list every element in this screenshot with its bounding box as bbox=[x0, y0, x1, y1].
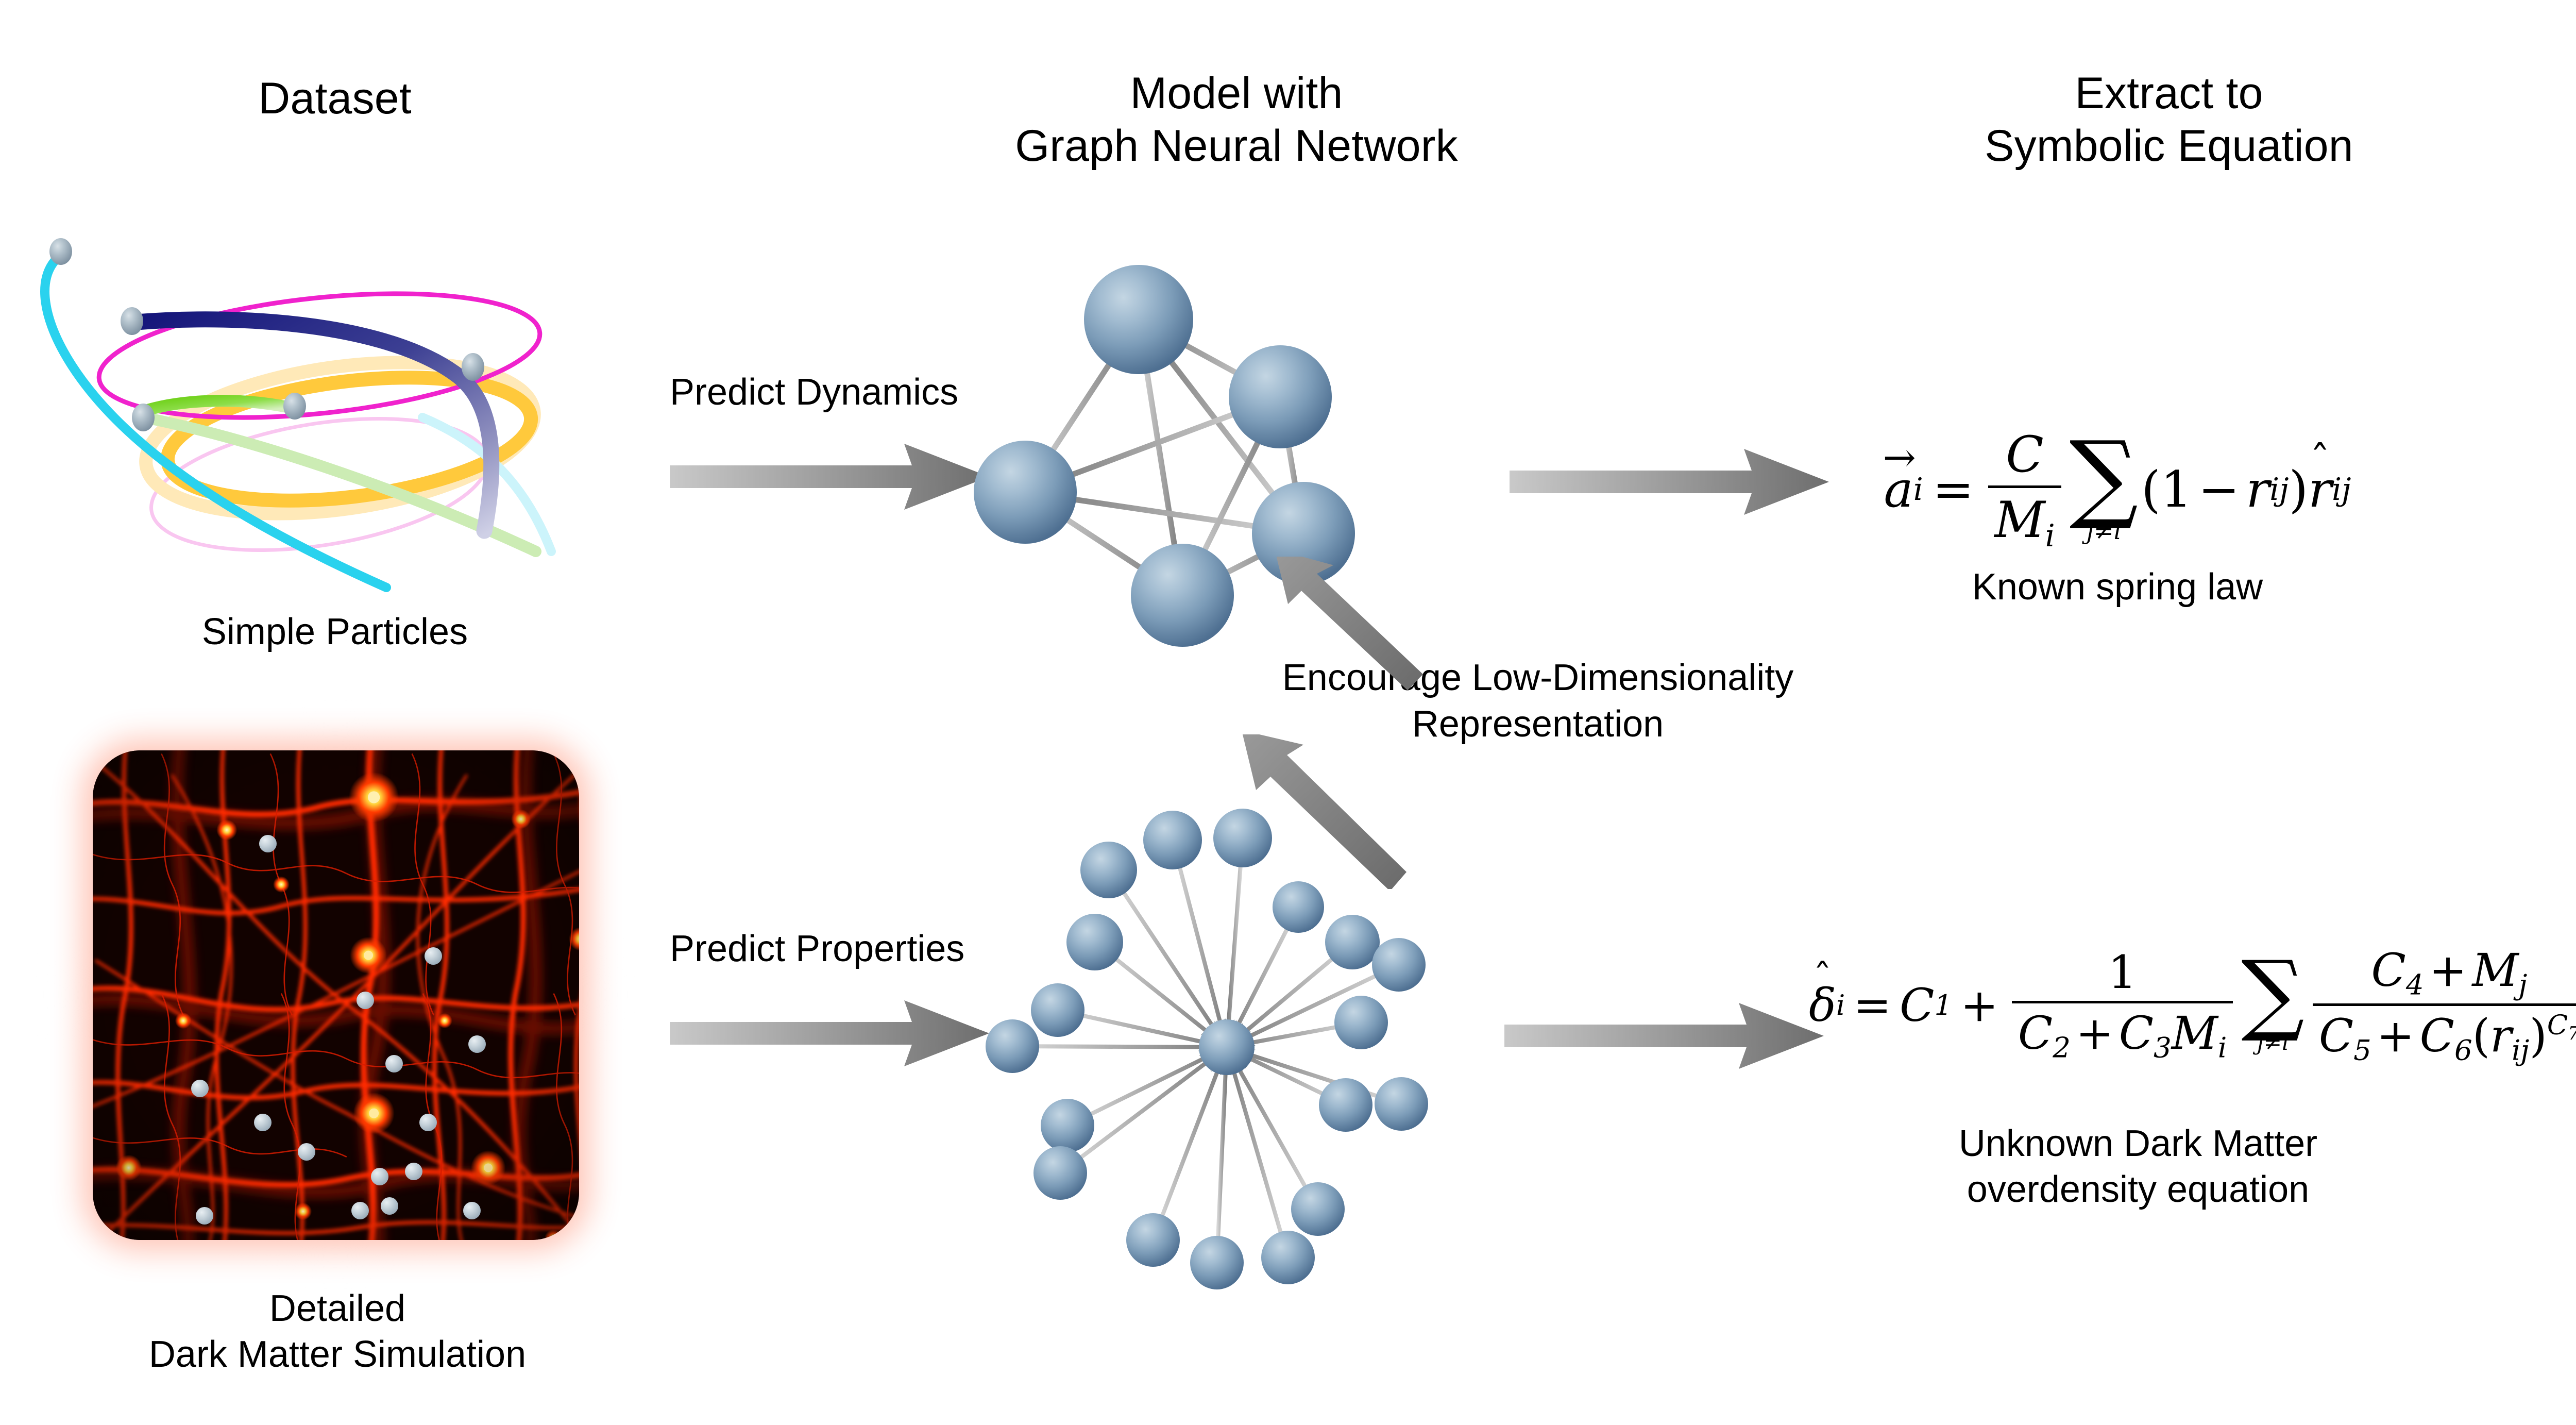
halo-marker bbox=[425, 947, 442, 965]
eq2-plus: + bbox=[1960, 979, 1998, 1032]
graph-node-center bbox=[1199, 1019, 1255, 1075]
halo-marker bbox=[371, 1168, 388, 1185]
graph-node bbox=[1229, 345, 1332, 448]
halo-marker bbox=[405, 1163, 422, 1180]
halo-marker bbox=[468, 1035, 486, 1053]
dark-matter-box bbox=[93, 750, 579, 1240]
graph-node bbox=[1126, 1213, 1180, 1267]
graph-node bbox=[1033, 1146, 1087, 1200]
graph-star bbox=[979, 804, 1473, 1299]
graph-node bbox=[1213, 809, 1272, 867]
equation-overdensity: ˆδi = C1 + 1 C2+C3Mi ∑ j≠i C4+Mj C5+C6(r… bbox=[1788, 935, 2576, 1075]
halo-marker bbox=[357, 992, 374, 1009]
graph-node bbox=[1261, 1231, 1315, 1284]
halo-marker bbox=[463, 1202, 481, 1219]
eq1-frac-den: Mi bbox=[1988, 488, 2061, 554]
graph-node bbox=[1143, 811, 1202, 869]
particle-marker bbox=[121, 307, 143, 335]
eq1-sum-limit: j≠i bbox=[2087, 519, 2122, 543]
graph-node bbox=[1031, 983, 1084, 1037]
eq2-equals: = bbox=[1853, 979, 1891, 1032]
vector-arrow-glyph: → bbox=[1883, 439, 1916, 478]
graph-edge bbox=[1217, 1047, 1227, 1263]
eq2-summation: ∑ j≠i bbox=[2241, 957, 2304, 1053]
eq2-delta: ˆδ bbox=[1809, 979, 1836, 1032]
particle-marker bbox=[49, 238, 72, 265]
eq1-rhat: ˆr bbox=[2308, 461, 2332, 518]
halo-marker bbox=[259, 835, 277, 852]
caption-unknown-overdensity: Unknown Dark Matter overdensity equation bbox=[1829, 1121, 2447, 1212]
eq1-equals: = bbox=[1933, 461, 1974, 518]
graph-node bbox=[1066, 914, 1123, 970]
graph-node bbox=[1334, 996, 1388, 1049]
eq1-minus: − bbox=[2198, 461, 2240, 518]
eq2-c1: C bbox=[1900, 979, 1934, 1032]
eq1-fraction: C Mi bbox=[1988, 426, 2061, 554]
eq1-summation: ∑ j≠i bbox=[2070, 437, 2139, 542]
eq1-one: 1 bbox=[2161, 461, 2192, 518]
arrow-extract-top bbox=[1510, 446, 1829, 518]
arrow-extract-bottom bbox=[1504, 1000, 1824, 1072]
column-title-extract: Extract to Symbolic Equation bbox=[1767, 67, 2571, 173]
graph-node bbox=[974, 441, 1077, 544]
eq2-fraction-2: C4+Mj C5+C6(rij)C7 bbox=[2313, 944, 2576, 1066]
halo-marker bbox=[196, 1207, 213, 1225]
graph-edge bbox=[1109, 870, 1227, 1047]
eq2-frac1-num: 1 bbox=[2102, 946, 2143, 1001]
eq1-open-paren: ( bbox=[2141, 461, 2160, 518]
graph-node bbox=[1372, 938, 1426, 992]
label-predict-properties: Predict Properties bbox=[670, 928, 964, 970]
eq2-exponent: C7 bbox=[2547, 1010, 2576, 1041]
graph-node bbox=[1273, 881, 1324, 933]
halo-marker bbox=[191, 1080, 209, 1097]
particle-marker bbox=[132, 404, 155, 431]
eq2-fraction-1: 1 C2+C3Mi bbox=[2012, 946, 2233, 1064]
eq2-sum-limit: j≠i bbox=[2257, 1032, 2289, 1053]
graph-node bbox=[1041, 1099, 1094, 1152]
graph-edge bbox=[1227, 838, 1243, 1047]
graph-edge bbox=[1227, 1047, 1288, 1258]
graph-node bbox=[1319, 1078, 1372, 1132]
graph-node bbox=[1325, 915, 1380, 969]
equation-spring-law: →ai = C Mi ∑ j≠i (1−rij)ˆrij bbox=[1834, 412, 2401, 567]
eq1-r: r bbox=[2246, 461, 2269, 518]
sigma-glyph: ∑ bbox=[2070, 437, 2139, 517]
hat-glyph: ˆ bbox=[1809, 960, 1836, 997]
column-title-dataset: Dataset bbox=[0, 72, 670, 125]
eq1-accel: →a bbox=[1884, 461, 1913, 518]
arrow-predict-properties bbox=[670, 997, 989, 1069]
arrow-predict-dynamics bbox=[670, 441, 989, 513]
caption-dark-matter-simulation: Detailed Dark Matter Simulation bbox=[21, 1286, 654, 1377]
graph-edge bbox=[1173, 840, 1227, 1047]
graph-node bbox=[1375, 1077, 1428, 1131]
sigma-glyph: ∑ bbox=[2241, 957, 2304, 1031]
eq2-frac2-den: C5+C6(rij)C7 bbox=[2313, 1006, 2576, 1066]
dark-matter-simulation-image bbox=[62, 720, 609, 1269]
simple-particles-illustration bbox=[31, 196, 639, 598]
figure-canvas: Dataset Model with Graph Neural Network … bbox=[0, 0, 2576, 1425]
halo-marker bbox=[298, 1143, 315, 1161]
label-predict-dynamics: Predict Dynamics bbox=[670, 371, 958, 413]
eq2-frac1-den: C2+C3Mi bbox=[2012, 1003, 2233, 1064]
particle-marker bbox=[462, 353, 484, 381]
cosmic-web bbox=[93, 750, 579, 1240]
graph-edge bbox=[1012, 1046, 1227, 1047]
halo-marker bbox=[419, 1114, 437, 1131]
graph-node bbox=[1084, 265, 1193, 374]
caption-known-spring-law: Known spring law bbox=[1834, 564, 2401, 610]
hat-glyph: ˆ bbox=[2308, 441, 2332, 481]
caption-simple-particles: Simple Particles bbox=[31, 609, 639, 655]
halo-marker bbox=[254, 1114, 272, 1131]
column-title-model: Model with Graph Neural Network bbox=[850, 67, 1623, 173]
halo-marker bbox=[351, 1202, 369, 1219]
halo-marker bbox=[381, 1197, 398, 1215]
arrow-low-dimensionality-upper bbox=[1273, 557, 1427, 701]
eq2-frac2-num: C4+Mj bbox=[2365, 944, 2534, 1003]
graph-node bbox=[1131, 544, 1234, 647]
halo-marker bbox=[385, 1055, 403, 1072]
graph-node bbox=[1190, 1236, 1244, 1289]
graph-node bbox=[1291, 1182, 1345, 1236]
graph-node bbox=[986, 1019, 1039, 1073]
eq1-frac-num: C bbox=[1999, 426, 2049, 485]
eq1-close-paren: ) bbox=[2289, 461, 2308, 518]
particle-marker bbox=[283, 393, 306, 420]
graph-node bbox=[1080, 842, 1137, 898]
